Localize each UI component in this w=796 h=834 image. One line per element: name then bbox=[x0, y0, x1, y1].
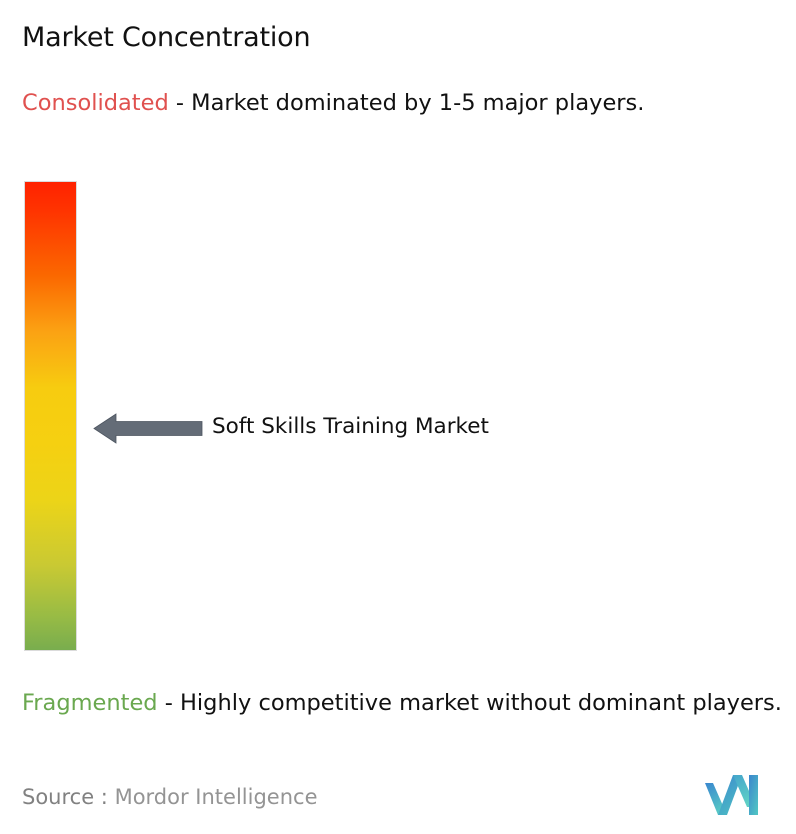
source-attribution: Source : Mordor Intelligence bbox=[22, 782, 317, 812]
legend-description-consolidated: - Market dominated by 1-5 major players. bbox=[169, 90, 645, 116]
concentration-scale-bar bbox=[25, 182, 76, 650]
legend-description-fragmented: - Highly competitive market without domi… bbox=[158, 690, 782, 716]
source-label: Source : bbox=[22, 785, 108, 809]
market-concentration-chart: Market Concentration Consolidated - Mark… bbox=[0, 0, 796, 834]
left-arrow-icon bbox=[93, 409, 203, 447]
legend-fragmented: Fragmented - Highly competitive market w… bbox=[22, 687, 794, 719]
legend-consolidated: Consolidated - Market dominated by 1-5 m… bbox=[22, 87, 762, 119]
market-pointer-label: Soft Skills Training Market bbox=[212, 412, 489, 442]
page-title: Market Concentration bbox=[22, 21, 310, 55]
source-value: Mordor Intelligence bbox=[115, 785, 318, 809]
legend-term-consolidated: Consolidated bbox=[22, 90, 169, 116]
mordor-intelligence-logo-icon bbox=[705, 769, 771, 819]
legend-term-fragmented: Fragmented bbox=[22, 690, 158, 716]
